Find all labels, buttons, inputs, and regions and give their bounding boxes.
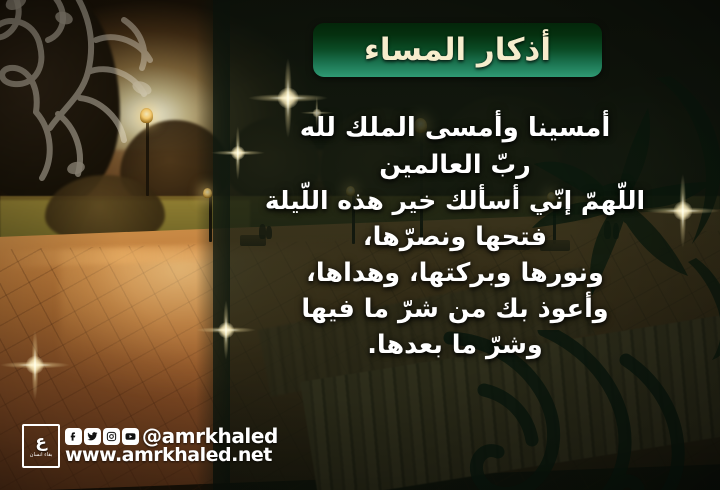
dhikr-line: وأعوذ بك من شرّ ما فيها — [215, 291, 695, 327]
youtube-icon[interactable] — [122, 428, 139, 445]
dhikr-line: اللّهمّ إنّي أسألك خير هذه اللّيلة — [215, 183, 695, 219]
dhikr-line: فتحها ونصرّها، — [215, 219, 695, 255]
amrkhaled-logo: ع بقاء انسان — [22, 424, 60, 468]
dhikr-line: ونورها وبركتها، وهداها، — [215, 255, 695, 291]
branding-block: ع بقاء انسان — [22, 424, 278, 468]
dhikr-line: أمسينا وأمسى الملك لله — [215, 110, 695, 147]
logo-calligraphy: ع — [35, 434, 47, 451]
page-title: أذكار المساء — [364, 35, 551, 66]
poster-canvas: أذكار المساء أمسينا وأمسى الملك لله ربّ … — [0, 0, 720, 490]
dhikr-text-block: أمسينا وأمسى الملك لله ربّ العالمين اللّ… — [215, 110, 695, 363]
instagram-icon[interactable] — [103, 428, 120, 445]
twitter-icon[interactable] — [84, 428, 101, 445]
logo-subtitle: بقاء انسان — [30, 453, 53, 458]
social-handle[interactable]: @amrkhaled — [142, 426, 278, 446]
title-banner: أذكار المساء — [313, 23, 602, 77]
dhikr-line: ربّ العالمين — [215, 147, 695, 183]
website-url[interactable]: www.amrkhaled.net — [65, 446, 278, 466]
social-row: @amrkhaled — [65, 426, 278, 446]
brand-text-lines: @amrkhaled www.amrkhaled.net — [65, 426, 278, 466]
facebook-icon[interactable] — [65, 428, 82, 445]
dhikr-line: وشرّ ما بعدها. — [215, 327, 695, 363]
